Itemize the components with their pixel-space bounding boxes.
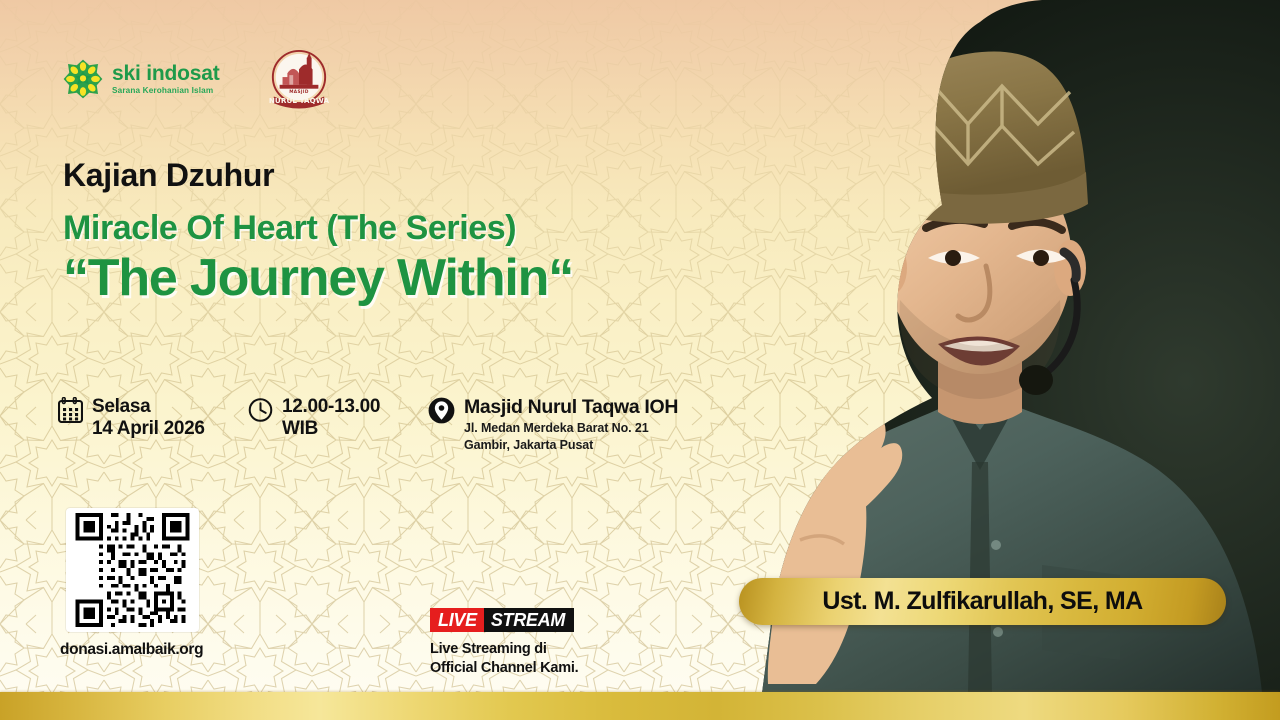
ski-indosat-logo: ski indosat Sarana Kerohanian Islam xyxy=(63,59,220,99)
donation-url[interactable]: donasi.amalbaik.org xyxy=(60,641,203,659)
event-time-zone: WIB xyxy=(282,418,380,440)
islamic-star-rosette-icon xyxy=(63,59,103,99)
series-title: Miracle Of Heart (The Series) xyxy=(63,209,573,248)
clock-icon xyxy=(248,397,273,423)
ski-logo-tagline: Sarana Kerohanian Islam xyxy=(112,87,220,95)
logo-row: ski indosat Sarana Kerohanian Islam MASJ… xyxy=(63,48,330,110)
badge-stream-label: STREAM xyxy=(484,608,574,632)
live-stream-badge: LIVE STREAM xyxy=(430,608,578,632)
speaker-name-pill: Ust. M. Zulfikarullah, SE, MA xyxy=(739,578,1226,625)
speaker-name: Ust. M. Zulfikarullah, SE, MA xyxy=(822,587,1142,616)
event-date: Selasa 14 April 2026 xyxy=(58,396,248,441)
donation-block: donasi.amalbaik.org xyxy=(66,508,203,659)
location-pin-icon xyxy=(428,397,455,424)
event-date-full: 14 April 2026 xyxy=(92,418,205,440)
title-block: Kajian Dzuhur Miracle Of Heart (The Seri… xyxy=(63,158,573,307)
event-time-range: 12.00-13.00 xyxy=(282,396,380,418)
poster-root: ski indosat Sarana Kerohanian Islam MASJ… xyxy=(0,0,1280,720)
svg-text:NURUL TAQWA: NURUL TAQWA xyxy=(268,96,329,105)
livestream-line1: Live Streaming di xyxy=(430,640,578,659)
bottom-gold-bar xyxy=(0,692,1280,720)
svg-text:MASJID: MASJID xyxy=(289,89,309,95)
mosque-circle-icon: MASJID NURUL TAQWA xyxy=(268,48,330,110)
theme-title: “The Journey Within“ xyxy=(63,250,573,307)
event-venue: Masjid Nurul Taqwa IOH Jl. Medan Merdeka… xyxy=(428,396,678,453)
event-day: Selasa xyxy=(92,396,205,418)
qr-code-icon[interactable] xyxy=(66,508,199,632)
venue-address-line1: Jl. Medan Merdeka Barat No. 21 xyxy=(464,420,678,436)
calendar-icon xyxy=(58,397,83,423)
livestream-line2: Official Channel Kami. xyxy=(430,659,578,678)
livestream-block: LIVE STREAM Live Streaming di Official C… xyxy=(430,608,578,679)
badge-live-label: LIVE xyxy=(430,608,484,632)
venue-address-line2: Gambir, Jakarta Pusat xyxy=(464,437,678,453)
event-time: 12.00-13.00 WIB xyxy=(248,396,428,441)
event-info-row: Selasa 14 April 2026 12.00-13.00 WIB Mas… xyxy=(58,396,678,453)
kicker-title: Kajian Dzuhur xyxy=(63,158,573,193)
venue-name: Masjid Nurul Taqwa IOH xyxy=(464,396,678,419)
ski-logo-name: ski indosat xyxy=(112,63,220,84)
